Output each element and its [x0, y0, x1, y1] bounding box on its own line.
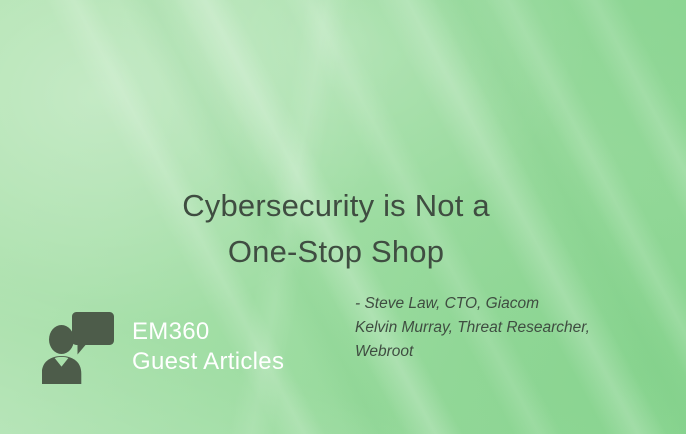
brand-lockup: EM360 Guest Articles	[42, 310, 284, 384]
person-speech-bubble-icon	[42, 310, 114, 384]
slide-canvas: Cybersecurity is Not a One-Stop Shop - S…	[0, 0, 686, 434]
brand-lockup-text: EM360 Guest Articles	[132, 317, 284, 377]
slide-headline: Cybersecurity is Not a One-Stop Shop	[0, 183, 672, 275]
slide-attribution: - Steve Law, CTO, Giacom Kelvin Murray, …	[355, 292, 667, 364]
